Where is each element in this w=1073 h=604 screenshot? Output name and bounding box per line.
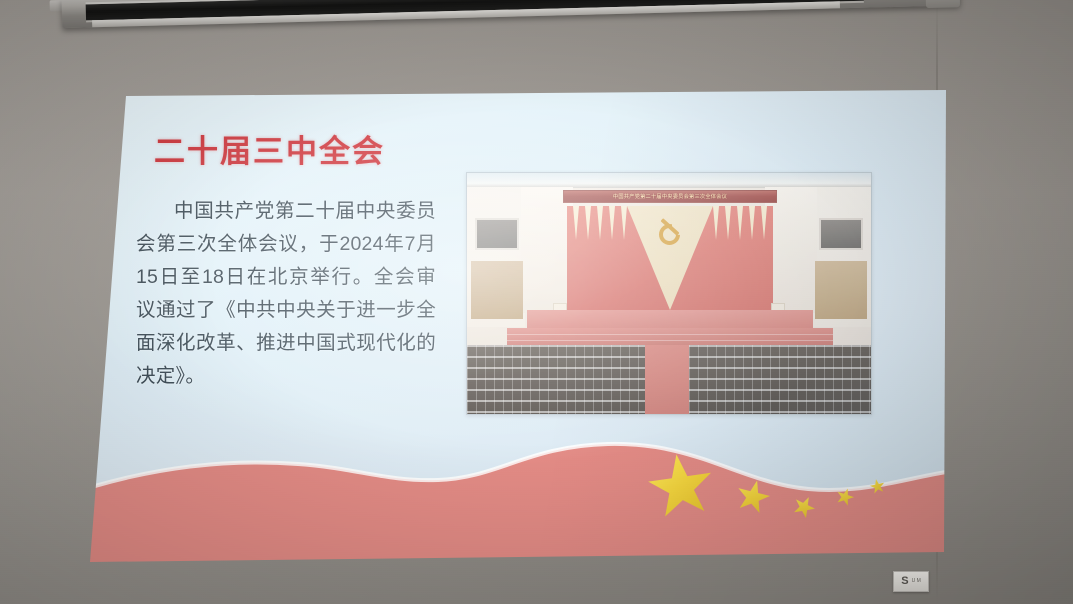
- hall-center-aisle: [645, 345, 691, 415]
- hall-meeting-banner: 中国共产党第二十届中央委员会第三次全体会议: [563, 190, 777, 203]
- hall-left-column: [521, 187, 573, 313]
- slide-body-text: 中国共产党第二十届中央委员会第三次全体会议，于2024年7月15日至18日在北京…: [136, 195, 436, 393]
- hall-ceiling: [467, 173, 871, 188]
- star-small-4: [869, 478, 887, 496]
- conference-hall-photo: 中国共产党第二十届中央委员会第三次全体会议: [466, 172, 872, 415]
- projected-slide-area: 二十届三中全会 中国共产党第二十届中央委员会第三次全体会议，于2024年7月15…: [88, 90, 946, 562]
- star-small-1: [732, 476, 773, 517]
- star-small-2: [789, 492, 818, 521]
- hall-right-door: [815, 261, 867, 319]
- hall-seating-right: [689, 345, 871, 415]
- curtain-point-5: [621, 206, 627, 240]
- curtain-point-7: [749, 206, 755, 240]
- hall-left-door: [471, 261, 523, 319]
- curtain-point-9: [725, 206, 731, 240]
- hall-left-panel: [475, 218, 519, 250]
- curtain-point-2: [585, 206, 591, 240]
- step-edge-1: [507, 334, 833, 335]
- sticker-code-text: U M: [912, 579, 921, 584]
- hall-right-panel: [819, 218, 863, 250]
- hall-stage-steps: [507, 328, 833, 346]
- sticker-logo-icon: S: [901, 576, 908, 587]
- hall-meeting-banner-text: 中国共产党第二十届中央委员会第三次全体会议: [613, 193, 727, 200]
- step-edge-2: [507, 340, 833, 341]
- star-small-3: [834, 486, 857, 509]
- wall-sticker: S U M: [893, 571, 929, 592]
- curtain-point-4: [609, 206, 615, 240]
- party-emblem-icon: [655, 221, 685, 251]
- presentation-slide: 二十届三中全会 中国共产党第二十届中央委员会第三次全体会议，于2024年7月15…: [88, 90, 946, 562]
- five-stars-decoration: [88, 430, 946, 562]
- curtain-point-8: [737, 206, 743, 240]
- curtain-point-6: [761, 206, 767, 240]
- curtain-point-10: [713, 206, 719, 240]
- curtain-point-3: [597, 206, 603, 240]
- hall-red-curtain: [567, 206, 773, 310]
- star-large: [644, 450, 719, 525]
- slide-title: 二十届三中全会: [154, 126, 385, 171]
- hall-stage: [527, 310, 813, 330]
- casing-right-endcap: [925, 0, 960, 8]
- hall-seating-left: [467, 345, 645, 415]
- curtain-point-1: [573, 206, 579, 240]
